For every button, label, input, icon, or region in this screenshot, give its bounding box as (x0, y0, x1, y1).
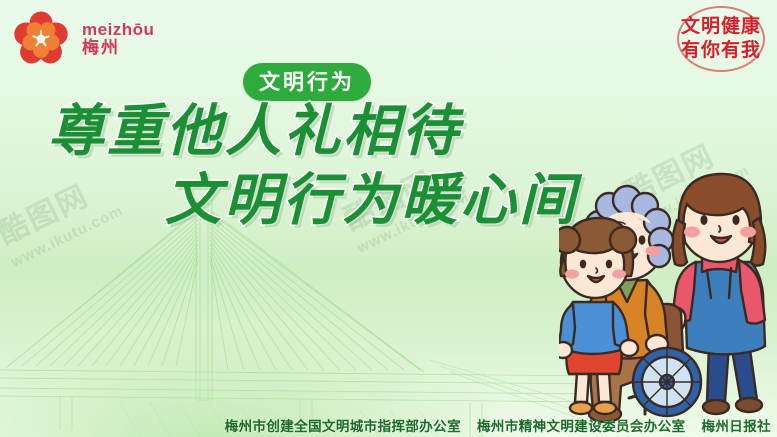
poster-root: 酷图网 www.ikutu.com 酷图网 www.ikutu.com 酷图网 … (0, 0, 777, 437)
meizhou-city-logo: meizhōu 梅州 (10, 8, 154, 70)
logo-chinese: 梅州 (82, 39, 154, 57)
footer-org-1: 梅州市创建全国文明城市指挥部办公室 (225, 415, 461, 435)
plum-blossom-icon (10, 8, 72, 70)
badge-line-2: 有你有我 (669, 39, 773, 63)
headline-line-1: 尊重他人礼相待 (48, 100, 680, 163)
wheelchair-wheel (633, 348, 701, 416)
logo-pinyin: meizhōu (82, 21, 154, 39)
footer-org-3: 梅州日报社 (702, 415, 772, 435)
footer-org-2: 梅州市精神文明建设委员会办公室 (477, 415, 686, 435)
family-illustration (559, 158, 777, 423)
health-slogan-badge: 文明健康 有你有我 (669, 4, 773, 74)
badge-line-1: 文明健康 (669, 15, 773, 39)
footer-credits: 梅州市创建全国文明城市指挥部办公室 梅州市精神文明建设委员会办公室 梅州日报社 (0, 415, 777, 435)
category-pill: 文明行为 (243, 63, 371, 101)
logo-wordmark: meizhōu 梅州 (82, 21, 154, 57)
badge-text: 文明健康 有你有我 (669, 15, 773, 64)
